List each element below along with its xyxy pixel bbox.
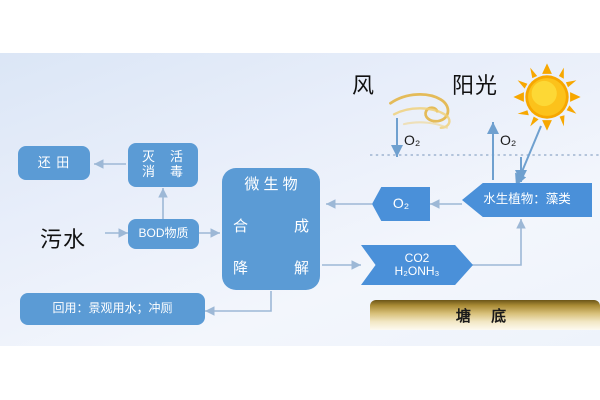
chevron-co2-label-2: H₂ONH₃ (395, 265, 440, 278)
chevron-oxygen[interactable]: O₂ (372, 187, 430, 221)
central-label-microorganism: 微 生 物 (244, 176, 297, 193)
label-sewage: 污水 (40, 222, 86, 254)
diagram-canvas: 还 田 灭 活 消 毒 BOD物质 回用：景观用水；冲厕 微 生 物 合 成 降… (0, 0, 600, 400)
central-mid-row: 合 成 (222, 218, 320, 235)
chevron-oxygen-label: O₂ (393, 196, 409, 211)
chevron-aquatic-plants-label: 水生植物：藻类 (483, 193, 571, 207)
pond-bottom-label: 塘 底 (456, 305, 514, 326)
label-o2-out-of-water: O₂ (500, 132, 516, 148)
box-disinfection-label-2: 消 毒 (142, 165, 184, 180)
pond-bottom-bar: 塘 底 (370, 300, 600, 330)
wind-swirl-icon (388, 82, 474, 138)
central-label-synthesis-right: 成 (294, 218, 309, 235)
box-return-to-field-label: 还 田 (38, 156, 71, 171)
central-label-degradation-left: 降 (233, 260, 248, 277)
box-disinfection-label-1: 灭 活 (142, 150, 184, 165)
box-water-reuse-label: 回用：景观用水；冲厕 (52, 302, 172, 316)
arrow-co2-to-plants (472, 219, 521, 265)
central-label-synthesis-left: 合 (233, 218, 248, 235)
arrow-sunlight-ray (516, 126, 541, 186)
chevron-co2-water-ammonia[interactable]: CO2 H₂ONH₃ (361, 245, 473, 285)
label-wind: 风 (352, 68, 375, 100)
box-return-to-field[interactable]: 还 田 (18, 146, 90, 180)
sun-icon (512, 62, 582, 132)
central-top-row: 微 生 物 (222, 176, 320, 193)
box-bod-substance[interactable]: BOD物质 (128, 219, 199, 249)
central-bottom-row: 降 解 (222, 260, 320, 277)
central-label-degradation-right: 解 (294, 260, 309, 277)
box-microorganism[interactable]: 微 生 物 合 成 降 解 (222, 168, 320, 290)
box-disinfection[interactable]: 灭 活 消 毒 (128, 143, 198, 187)
box-water-reuse[interactable]: 回用：景观用水；冲厕 (20, 293, 205, 325)
box-bod-substance-label: BOD物质 (138, 227, 188, 241)
arrow-central-to-reuse (205, 291, 271, 311)
chevron-aquatic-plants[interactable]: 水生植物：藻类 (462, 183, 592, 217)
